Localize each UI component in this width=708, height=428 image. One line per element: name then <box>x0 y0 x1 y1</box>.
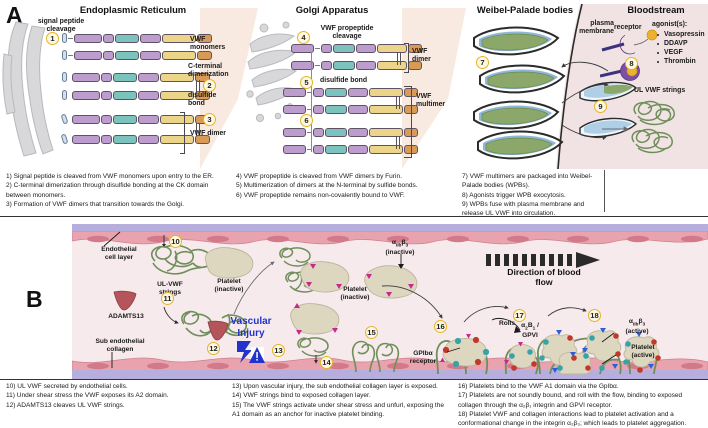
label-agonists-title: agonist(s): <box>652 21 687 29</box>
d3-domain <box>313 145 324 154</box>
label-adamts13: ADAMTS13 <box>100 313 152 321</box>
signal-peptide-domain-detached <box>62 90 67 100</box>
golgi-dimer-bracket <box>404 43 409 73</box>
disulfide-bond-line <box>400 52 401 65</box>
label-integrin-active: αIIbβ3(active) <box>612 318 662 335</box>
vwf-monomer-2 <box>62 50 212 60</box>
agonist-item-thrombin: Thrombin <box>664 58 696 66</box>
vwf-monomer-6 <box>62 134 210 144</box>
caption-a-col3: 7) VWF multimers are packaged into Weibe… <box>462 172 604 218</box>
caption-line: 17) Platelets are not soundly bound, and… <box>458 391 704 410</box>
step-number-14: 14 <box>320 356 333 369</box>
disulfide-bond-line <box>399 136 400 149</box>
label-gpiba-receptor: GPIbαreceptor <box>396 350 450 365</box>
caption-line: 7) VWF multimers are packaged into Weibe… <box>462 172 604 191</box>
label-vascular-injury: VascularInjury <box>216 316 286 339</box>
propeptide-domain <box>72 91 100 100</box>
caption-line: 10) UL VWF secreted by endothelial cells… <box>6 382 228 391</box>
golgi-vwf-monomer-6 <box>283 145 418 154</box>
label-vwf-propeptide-cleavage: VWF propeptidecleavage <box>313 25 381 40</box>
step-number-13: 13 <box>272 344 285 357</box>
d4-domain <box>377 61 407 70</box>
a-domain <box>113 135 137 144</box>
label-golgi-disulfide-bond: disulfide bond <box>320 77 367 85</box>
a3-domain <box>348 145 368 154</box>
adamts13-icon <box>112 290 138 312</box>
caption-line: 12) ADAMTS13 cleaves UL VWF strings. <box>6 401 228 410</box>
a-domain <box>325 105 347 114</box>
propeptide-domain-cleaved <box>283 145 306 154</box>
ck-domain <box>197 51 212 60</box>
propeptide-domain-cleaved <box>283 105 306 114</box>
a-domain <box>113 91 137 100</box>
caption-a-col2: 4) VWF propeptide is cleaved from VWF di… <box>236 172 458 200</box>
a3-domain <box>348 88 368 97</box>
d4-domain <box>377 44 407 53</box>
d3-domain <box>101 73 112 82</box>
step-number-10: 10 <box>169 235 182 248</box>
d4-domain <box>160 115 194 124</box>
step-number-7: 7 <box>476 56 489 69</box>
a-domain <box>115 51 139 60</box>
leader-integrin-inactive <box>394 254 408 270</box>
d3-domain <box>101 91 112 100</box>
d4-domain <box>369 145 403 154</box>
propeptide-domain <box>72 73 100 82</box>
d4-domain <box>369 128 403 137</box>
caption-a-col1: 1) Signal peptide is cleaved from VWF mo… <box>6 172 234 209</box>
a-domain <box>333 44 355 53</box>
panel-a: A Endoplasmic Reticulum Golgi Apparatus … <box>0 0 708 213</box>
panel-b-letter: B <box>26 286 43 313</box>
caption-line: 14) VWF strings bind to exposed collagen… <box>232 391 452 400</box>
signal-peptide-domain-detached <box>61 133 69 144</box>
caption-line: 18) Platelet VWF and collagen interactio… <box>458 410 704 428</box>
section-title-er: Endoplasmic Reticulum <box>58 4 208 15</box>
caption-line: 8) Agonists trigger WPB exocytosis. <box>462 191 604 200</box>
arrow-to-step-18 <box>546 304 592 320</box>
d3-domain <box>101 135 112 144</box>
signal-peptide-domain <box>62 50 67 60</box>
agonist-item-ddavp: DDAVP <box>664 40 688 48</box>
a-domain <box>325 145 347 154</box>
a3-domain <box>138 73 159 82</box>
step-number-6: 6 <box>300 114 313 127</box>
agonist-item-vegf: VEGF <box>664 49 683 57</box>
n-terminal-bond <box>311 52 312 152</box>
label-vwf-dimer: VWF dimer <box>190 130 236 138</box>
caption-b-col3: 16) Platelets bind to the VWF A1 domain … <box>458 382 704 428</box>
section-title-bloodstream: Bloodstream <box>608 4 704 15</box>
domain-link <box>315 65 320 66</box>
d3-domain <box>313 88 324 97</box>
bloodstream-divider <box>604 170 605 212</box>
panel-divider <box>0 216 708 217</box>
panel-b-divider <box>0 379 708 380</box>
d4-domain <box>160 135 194 144</box>
label-platelet-inactive-2: Platelet(inactive) <box>326 286 384 301</box>
caption-b-col1: 10) UL VWF secreted by endothelial cells… <box>6 382 228 410</box>
step-number-9: 9 <box>594 100 607 113</box>
domain-link <box>315 48 320 49</box>
caption-line: 6) VWF propeptide remains non-covalently… <box>236 191 458 200</box>
label-signal-peptide-cleavage: signal peptidecleavage <box>30 18 92 33</box>
section-title-golgi: Golgi Apparatus <box>262 4 402 15</box>
arrow-to-step-17 <box>462 302 516 326</box>
weibel-palade-body-1 <box>474 28 558 55</box>
vwf-monomer-5 <box>62 114 210 124</box>
leader-platelet-active <box>600 354 618 366</box>
panel-b: B Endothelialcell layer Sub endothelialc… <box>0 224 708 379</box>
label-ul-vwf-strings-a: UL VWF strings <box>634 87 685 95</box>
step-number-2: 2 <box>203 79 216 92</box>
caption-line: 2) C-terminal dimerization through disul… <box>6 181 234 200</box>
a3-domain <box>140 34 161 43</box>
a3-domain <box>138 91 159 100</box>
step-number-1: 1 <box>46 32 59 45</box>
d3-domain <box>321 61 332 70</box>
label-platelet-inactive-1: Platelet(inactive) <box>200 278 258 293</box>
label-disulfide-bond: disulfidebond <box>188 92 232 107</box>
d4-domain <box>369 105 403 114</box>
label-vwf-multimer: VWFmultimer <box>416 93 452 108</box>
d4-domain <box>162 51 196 60</box>
label-endothelial-cell-layer: Endothelialcell layer <box>90 246 148 261</box>
a3-domain <box>138 115 159 124</box>
blood-flow-arrow <box>486 252 602 268</box>
caption-line: 5) Multimerization of dimers at the N-te… <box>236 181 458 190</box>
a-domain <box>113 115 137 124</box>
signal-peptide-domain-detached <box>61 113 69 124</box>
a-domain <box>333 61 355 70</box>
caption-line: 15) The VWF strings activate under shear… <box>232 401 452 420</box>
step-number-8: 8 <box>625 57 638 70</box>
caption-line: 4) VWF propeptide is cleaved from VWF di… <box>236 172 458 181</box>
propeptide-domain <box>74 34 102 43</box>
step-number-15: 15 <box>365 326 378 339</box>
a3-domain <box>356 61 376 70</box>
a3-domain <box>348 105 368 114</box>
step-number-18: 18 <box>588 309 601 322</box>
vascular-injury-icon <box>235 338 265 366</box>
propeptide-domain <box>74 51 102 60</box>
d4-domain <box>369 88 403 97</box>
step-number-11: 11 <box>161 292 174 305</box>
domain-link <box>68 55 73 56</box>
propeptide-domain <box>72 115 100 124</box>
disulfide-bond-line <box>396 96 397 109</box>
d3-domain <box>313 128 324 137</box>
golgi-vwf-monomer-5 <box>283 128 418 137</box>
dimer-bracket <box>180 112 185 154</box>
ul-vwf-strings-a <box>628 96 698 164</box>
d3-domain <box>313 105 324 114</box>
step-number-17: 17 <box>513 309 526 322</box>
multimer-bracket <box>404 86 412 158</box>
disulfide-bond-line <box>396 136 397 149</box>
label-c-terminal-dimerization: C-terminaldimerization <box>188 63 240 78</box>
label-direction-of-blood-flow: Direction of bloodflow <box>478 268 610 288</box>
caption-line: 3) Formation of VWF dimers that transiti… <box>6 200 234 209</box>
platelet-inactive-2 <box>286 302 344 336</box>
agonist-item-vasopressin: Vasopressin <box>664 31 705 39</box>
caption-b-col2: 13) Upon vascular injury, the sub endoth… <box>232 382 452 419</box>
disulfide-bond-line <box>399 96 400 109</box>
caption-line: 11) Under shear stress the VWF exposes i… <box>6 391 228 400</box>
a-domain <box>325 88 347 97</box>
disulfide-bond-line <box>397 52 398 65</box>
platelet-inactive-1 <box>200 246 258 280</box>
propeptide-domain <box>72 135 100 144</box>
label-platelet-active: Platelet(active) <box>618 344 668 359</box>
caption-line: 1) Signal peptide is cleaved from VWF mo… <box>6 172 234 181</box>
golgi-apparatus-icon <box>244 18 302 136</box>
a3-domain <box>356 44 376 53</box>
d3-domain <box>321 44 332 53</box>
a3-domain <box>348 128 368 137</box>
label-sub-endothelial-collagen: Sub endothelialcollagen <box>84 338 156 353</box>
propeptide-domain-cleaved <box>283 128 306 137</box>
step-number-12: 12 <box>207 342 220 355</box>
leader-gpiba <box>446 346 462 356</box>
a-domain <box>113 73 137 82</box>
label-vwf-monomers: VWFmonomers <box>190 36 234 51</box>
step-number-16: 16 <box>434 320 447 333</box>
release-arrow <box>600 122 634 136</box>
caption-line: 13) Upon vascular injury, the sub endoth… <box>232 382 452 391</box>
a3-domain <box>138 135 159 144</box>
caption-line: 16) Platelets bind to the VWF A1 domain … <box>458 382 704 391</box>
step-number-5: 5 <box>300 76 313 89</box>
signal-peptide-domain-detached <box>62 72 67 82</box>
d3-domain <box>103 51 114 60</box>
propeptide-domain-cleaved <box>283 88 306 97</box>
step-number-3: 3 <box>203 113 216 126</box>
a-domain <box>325 128 347 137</box>
d3-domain <box>101 115 112 124</box>
step-number-4: 4 <box>297 31 310 44</box>
domain-link <box>68 38 73 39</box>
golgi-vwf-monomer-4 <box>283 105 418 114</box>
signal-peptide-domain <box>62 33 67 43</box>
d3-domain <box>103 34 114 43</box>
a3-domain <box>140 51 161 60</box>
golgi-vwf-monomer-3 <box>283 88 418 97</box>
figure-root: A Endoplasmic Reticulum Golgi Apparatus … <box>0 0 708 428</box>
leader-integrin-active <box>600 332 616 344</box>
a-domain <box>115 34 139 43</box>
label-golgi-vwf-dimer: VWFdimer <box>412 48 438 63</box>
